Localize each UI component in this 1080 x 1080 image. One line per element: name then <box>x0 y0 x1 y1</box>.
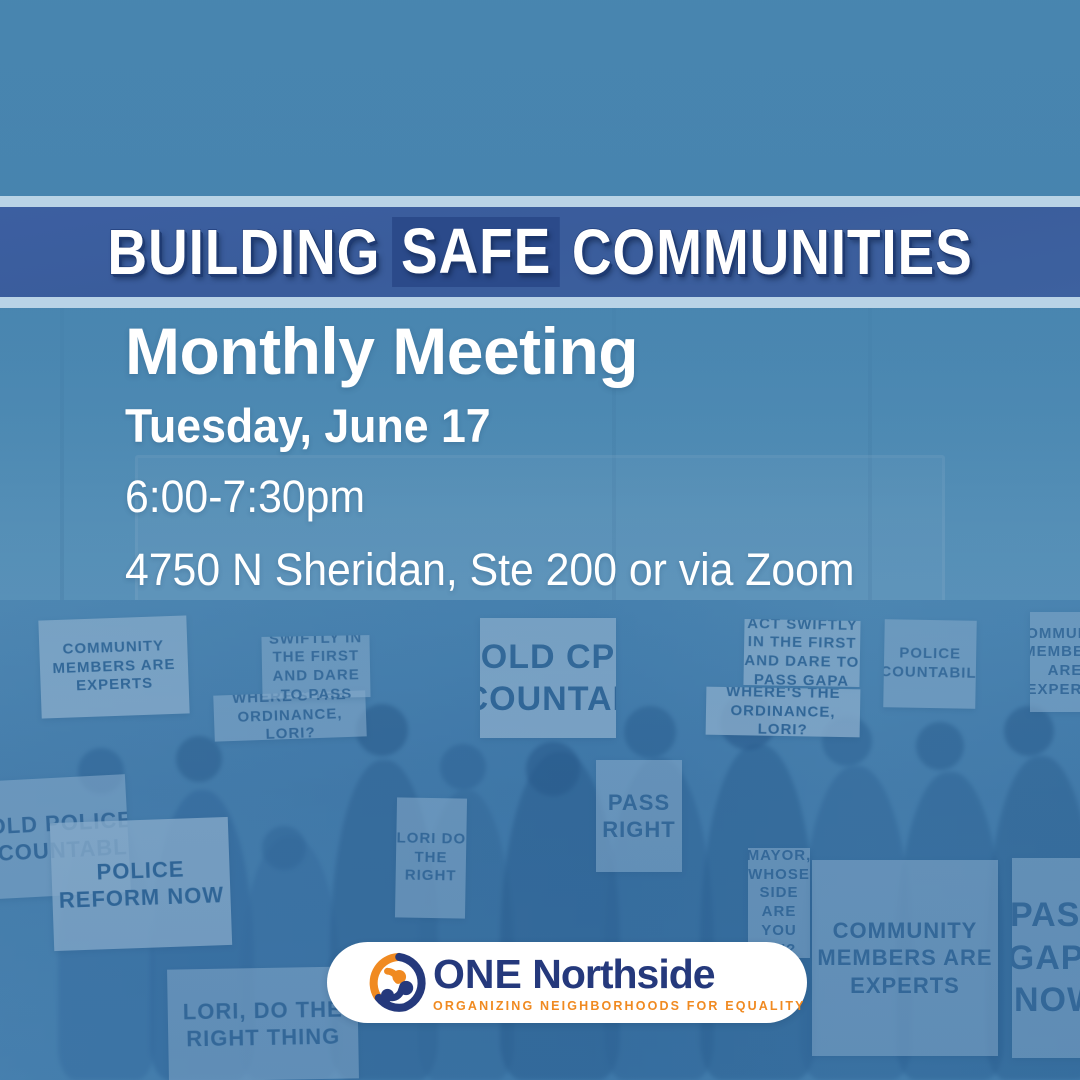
logo-name-northside: Northside <box>522 951 715 997</box>
banner-top-band <box>0 196 1080 207</box>
logo-wordmark: ONE Northside ORGANIZING NEIGHBORHOODS F… <box>433 954 806 1013</box>
three-people-circle-icon <box>367 952 429 1014</box>
event-time: 6:00-7:30pm <box>125 473 961 520</box>
banner-word-communities: COMMUNITIES <box>572 220 973 284</box>
title-banner: BUILDING SAFE COMMUNITIES <box>0 196 1080 308</box>
banner-word-building: BUILDING <box>107 220 380 284</box>
banner-title: BUILDING SAFE COMMUNITIES <box>107 217 972 287</box>
logo-tagline: ORGANIZING NEIGHBORHOODS FOR EQUALITY <box>433 1000 806 1013</box>
banner-word-safe-highlight: SAFE <box>392 217 559 287</box>
banner-bottom-band <box>0 297 1080 308</box>
logo-name: ONE Northside <box>433 954 806 995</box>
event-details: Monthly Meeting Tuesday, June 17 6:00-7:… <box>125 318 1005 593</box>
event-location: 4750 N Sheridan, Ste 200 or via Zoom <box>125 546 961 593</box>
banner-bar: BUILDING SAFE COMMUNITIES <box>0 207 1080 297</box>
logo-name-one: ONE <box>433 951 522 997</box>
event-flyer: COMMUNITY MEMBERS ARE EXPERTSHOLD POLICE… <box>0 0 1080 1080</box>
event-date: Tuesday, June 17 <box>125 401 961 450</box>
one-northside-logo: ONE Northside ORGANIZING NEIGHBORHOODS F… <box>327 942 807 1023</box>
event-heading: Monthly Meeting <box>125 318 1005 385</box>
